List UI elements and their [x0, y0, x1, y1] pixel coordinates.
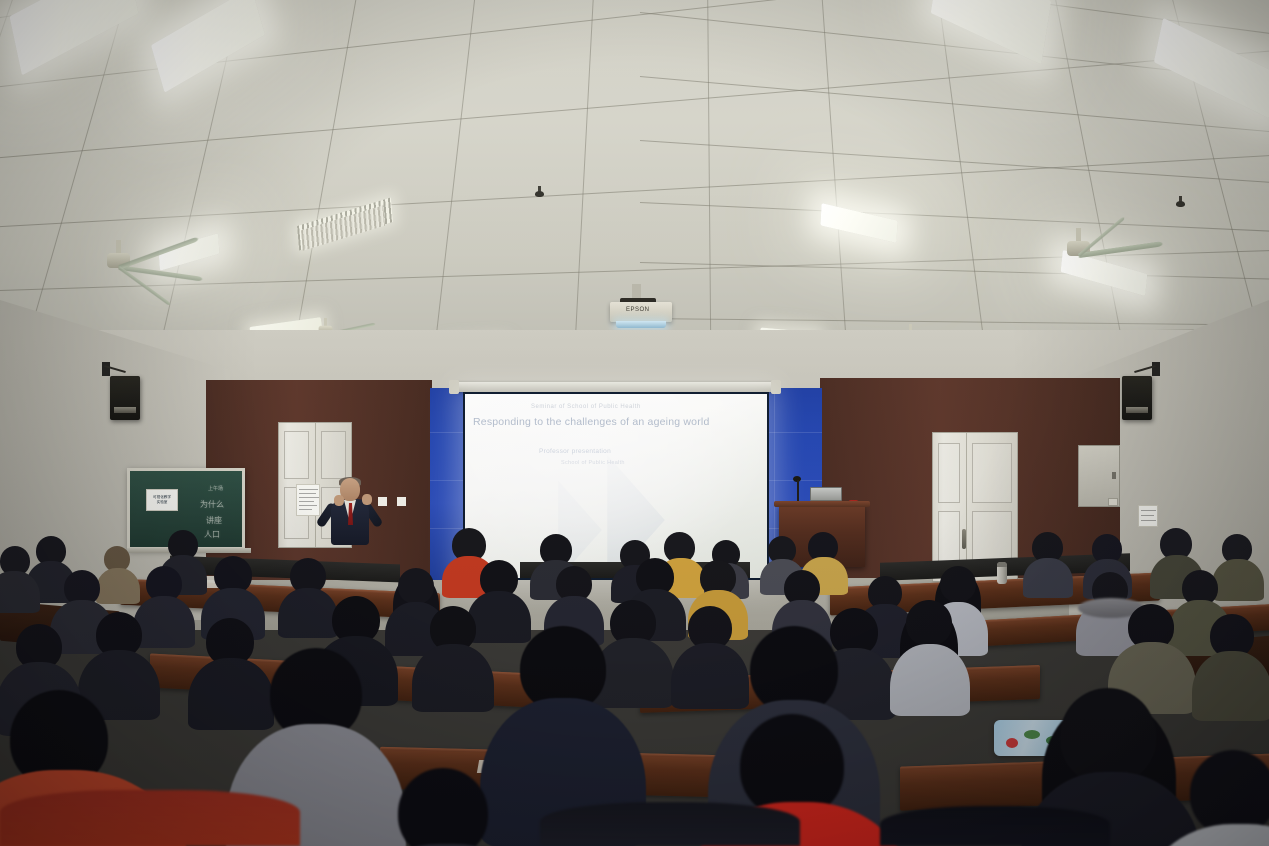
chalkboard-sign-line2: 实验室	[157, 500, 168, 504]
slide-title: Responding to the challenges of an agein…	[473, 416, 769, 428]
chalkboard-note: 上午场	[208, 485, 223, 492]
chalkboard-note: 为什么	[200, 499, 224, 510]
screen-housing[interactable]	[455, 382, 775, 392]
presenter	[318, 478, 382, 558]
ceiling-lamp	[151, 0, 265, 93]
chalkboard-sign: 可视化教学 实验室	[146, 489, 178, 511]
presenter-hand-left	[334, 495, 344, 506]
door-notice-left	[296, 484, 320, 516]
wall-notice-right	[1138, 505, 1158, 527]
wall-switch[interactable]	[1108, 498, 1118, 506]
thermos-bottle	[997, 562, 1007, 584]
slide-subtitle-2: School of Public Health	[561, 460, 625, 466]
ceiling-lamp	[1061, 250, 1148, 296]
chalkboard-note: 人口	[204, 529, 220, 540]
audience-silhouette	[880, 806, 1110, 846]
audience-silhouette	[0, 790, 300, 846]
projector-brand-label: EPSON	[626, 307, 650, 313]
wall-marker	[397, 497, 406, 506]
ceiling-lamp	[820, 203, 897, 243]
sprinkler-head	[535, 186, 544, 199]
sprinkler-head	[1176, 196, 1185, 209]
ceiling-lamp	[931, 0, 1052, 65]
ceiling-lamp	[9, 0, 138, 75]
slide-subtitle: Professor presentation	[539, 448, 611, 455]
projector-lens	[616, 321, 666, 328]
presenter-hand-right	[362, 494, 372, 505]
lecture-hall-photo: EPSON Seminar of School of Public Health…	[0, 0, 1269, 846]
projector: EPSON	[604, 284, 676, 336]
slide-kicker: Seminar of School of Public Health	[531, 404, 769, 410]
chalkboard-note: 讲座	[206, 515, 222, 526]
chalkboard-sign-line1: 可视化教学	[153, 495, 171, 499]
audience-silhouette	[540, 802, 800, 846]
ceiling-lamp	[1154, 18, 1269, 118]
